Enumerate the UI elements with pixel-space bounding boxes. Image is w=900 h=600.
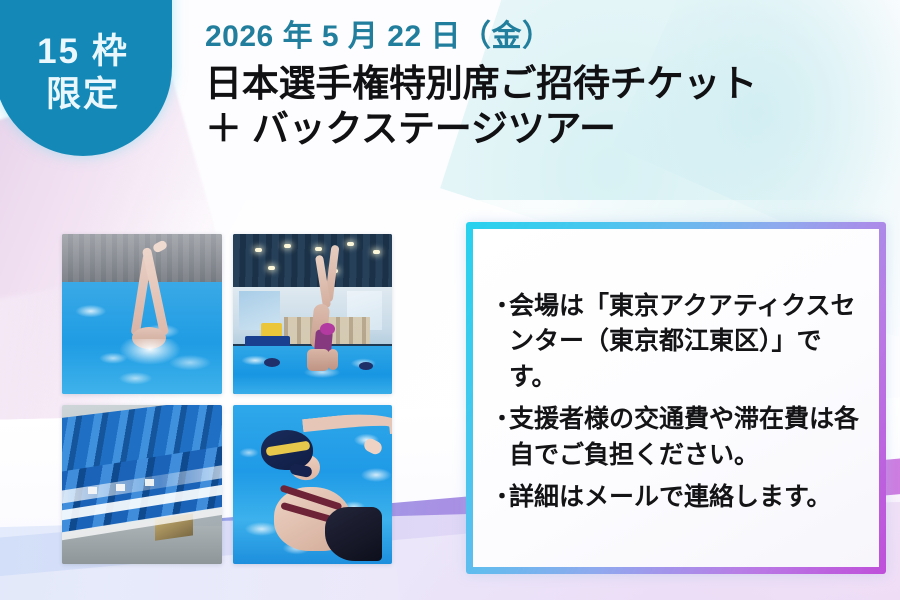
- photo-poolside-handstand-training: [233, 234, 393, 394]
- bullet-dot-icon: ・: [491, 402, 509, 435]
- page-title-line-1: 日本選手権特別席ご招待チケット: [205, 60, 895, 107]
- page-title-line-2: ＋ バックステージツアー: [205, 105, 895, 152]
- event-date: 2026 年 5 月 22 日（金）: [205, 18, 895, 56]
- notes-box-inner: ・ 会場は「東京アクアティクスセンター（東京都江東区）」です。 ・ 支援者様の交…: [473, 229, 879, 567]
- photo-grid: [62, 234, 392, 564]
- note-text-venue: 会場は「東京アクアティクスセンター（東京都江東区）」です。: [509, 289, 863, 396]
- note-text-contact: 詳細はメールで連絡します。: [509, 480, 863, 516]
- notes-box: ・ 会場は「東京アクアティクスセンター（東京都江東区）」です。 ・ 支援者様の交…: [466, 222, 886, 574]
- header: 15 枠 限定 2026 年 5 月 22 日（金） 日本選手権特別席ご招待チケ…: [0, 0, 900, 200]
- bullet-dot-icon: ・: [491, 480, 509, 513]
- list-item: ・ 会場は「東京アクアティクスセンター（東京都江東区）」です。: [491, 289, 863, 396]
- promo-card: 15 枠 限定 2026 年 5 月 22 日（金） 日本選手権特別席ご招待チケ…: [0, 0, 900, 600]
- badge-line-2: 限定: [46, 74, 120, 117]
- list-item: ・ 支援者様の交通費や滞在費は各自でご負担ください。: [491, 402, 863, 473]
- photo-artistic-swimming-vertical-legs: [62, 234, 222, 394]
- bullet-dot-icon: ・: [491, 289, 509, 322]
- badge-line-1: 15 枠: [37, 31, 129, 74]
- header-text-block: 2026 年 5 月 22 日（金） 日本選手権特別席ご招待チケット ＋ バック…: [205, 18, 895, 152]
- photo-blue-stadium-seats: [62, 405, 222, 565]
- limited-slots-badge: 15 枠 限定: [0, 0, 172, 156]
- note-text-expenses: 支援者様の交通費や滞在費は各自でご負担ください。: [509, 402, 863, 473]
- photo-butterfly-swimmer: [233, 405, 393, 565]
- list-item: ・ 詳細はメールで連絡します。: [491, 480, 863, 516]
